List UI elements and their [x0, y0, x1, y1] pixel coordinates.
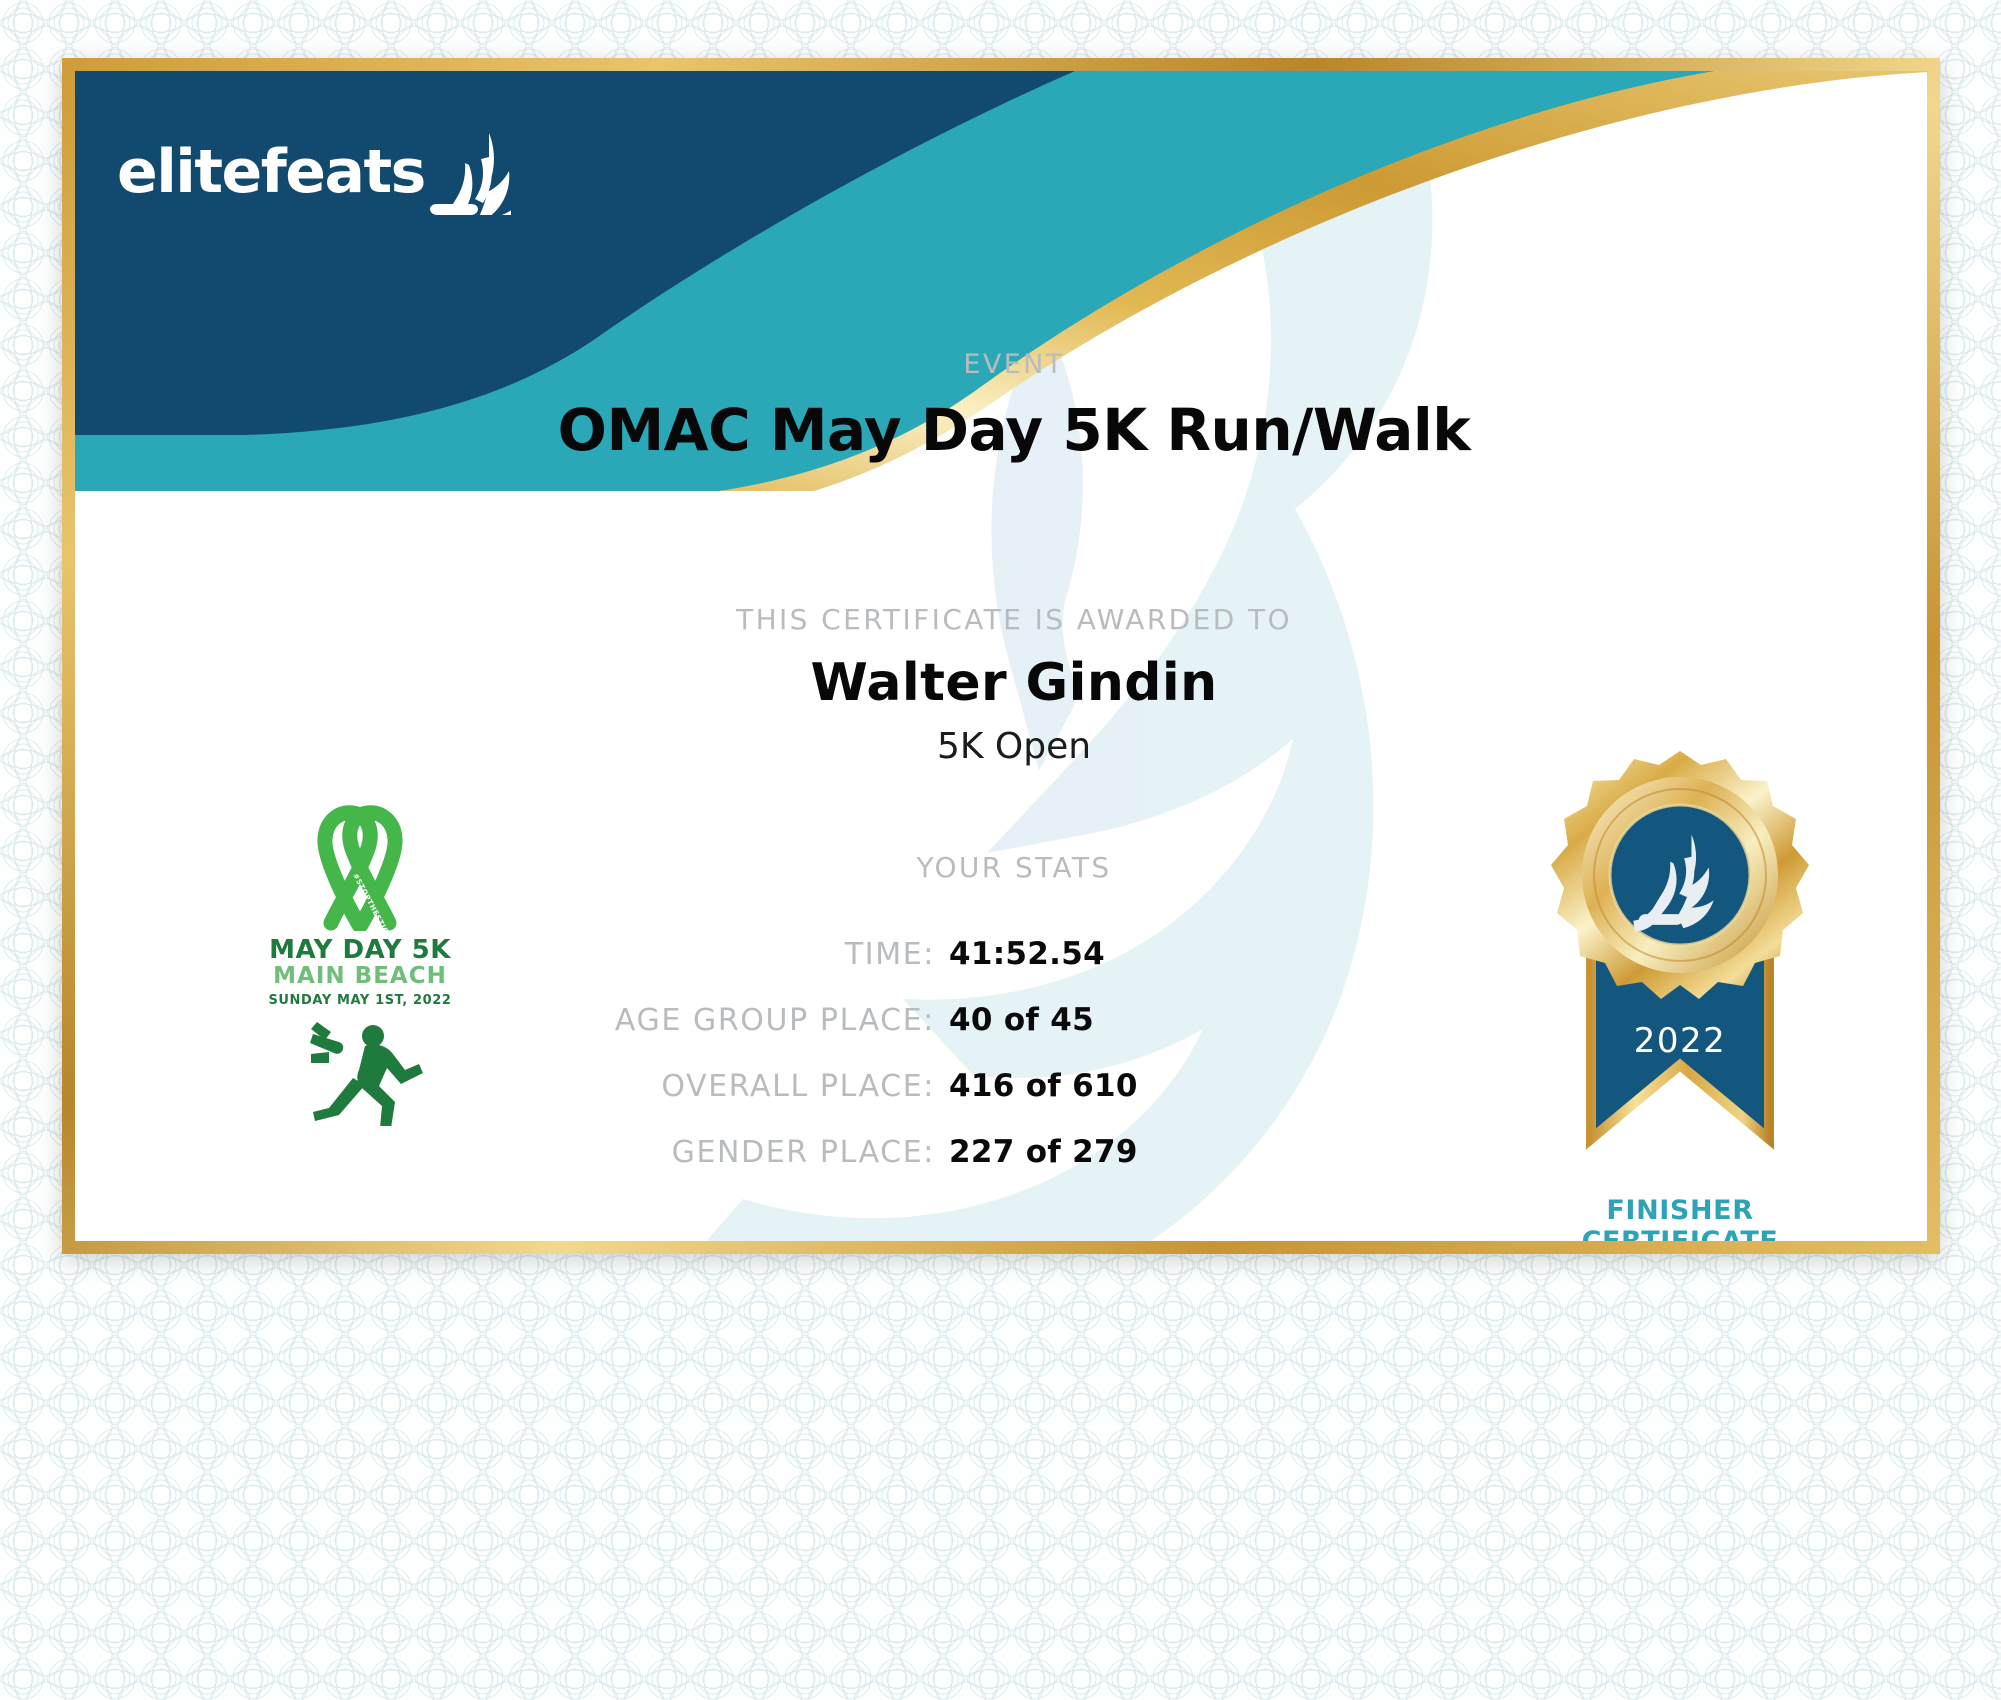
- race-logo-subtitle: MAIN BEACH: [255, 964, 465, 989]
- running-person-icon: [295, 1016, 425, 1126]
- finisher-medal-badge: 2022 FINISHER CERTIFICATE: [1515, 743, 1845, 1188]
- stat-value-time: 41:52.54: [949, 936, 1105, 972]
- gold-frame: elitefeats EVENT OMAC May Day 5K Run/Wal…: [62, 58, 1940, 1254]
- stat-row: AGE GROUP PLACE: 40 of 45: [415, 1002, 1375, 1046]
- stat-key-gender-place: GENDER PLACE:: [415, 1135, 935, 1170]
- medal-year: 2022: [1515, 1021, 1845, 1061]
- gold-medal-icon: [1515, 743, 1845, 1183]
- stat-key-age-group-place: AGE GROUP PLACE:: [415, 1003, 935, 1038]
- recipient-name: Walter Gindin: [75, 653, 1927, 713]
- race-logo-title: MAY DAY 5K: [255, 937, 465, 964]
- event-label: EVENT: [75, 349, 1927, 380]
- certificate-paper: elitefeats EVENT OMAC May Day 5K Run/Wal…: [75, 71, 1927, 1241]
- stat-value-overall-place: 416 of 610: [949, 1068, 1138, 1104]
- race-logo-date: SUNDAY MAY 1ST, 2022: [255, 993, 465, 1008]
- awareness-ribbon-icon: #STOPTHESTIGMA: [295, 801, 425, 931]
- awarded-to-label: THIS CERTIFICATE IS AWARDED TO: [75, 603, 1927, 636]
- stat-row: OVERALL PLACE: 416 of 610: [415, 1068, 1375, 1112]
- badge-caption-line2: CERTIFICATE: [1515, 1226, 1845, 1241]
- badge-caption-line1: FINISHER: [1515, 1195, 1845, 1226]
- stat-key-time: TIME:: [415, 937, 935, 972]
- stat-key-overall-place: OVERALL PLACE:: [415, 1069, 935, 1104]
- stat-value-gender-place: 227 of 279: [949, 1134, 1138, 1170]
- race-logo: #STOPTHESTIGMA MAY DAY 5K MAIN BEACH SUN…: [255, 801, 465, 1126]
- stats-table: TIME: 41:52.54 AGE GROUP PLACE: 40 of 45…: [415, 936, 1375, 1200]
- event-title: OMAC May Day 5K Run/Walk: [75, 396, 1927, 464]
- badge-caption: FINISHER CERTIFICATE: [1515, 1195, 1845, 1241]
- stat-row: TIME: 41:52.54: [415, 936, 1375, 980]
- stat-value-age-group-place: 40 of 45: [949, 1002, 1094, 1038]
- certificate-page: elitefeats EVENT OMAC May Day 5K Run/Wal…: [0, 0, 2001, 1700]
- stat-row: GENDER PLACE: 227 of 279: [415, 1134, 1375, 1178]
- certificate-content: EVENT OMAC May Day 5K Run/Walk THIS CERT…: [75, 71, 1927, 1241]
